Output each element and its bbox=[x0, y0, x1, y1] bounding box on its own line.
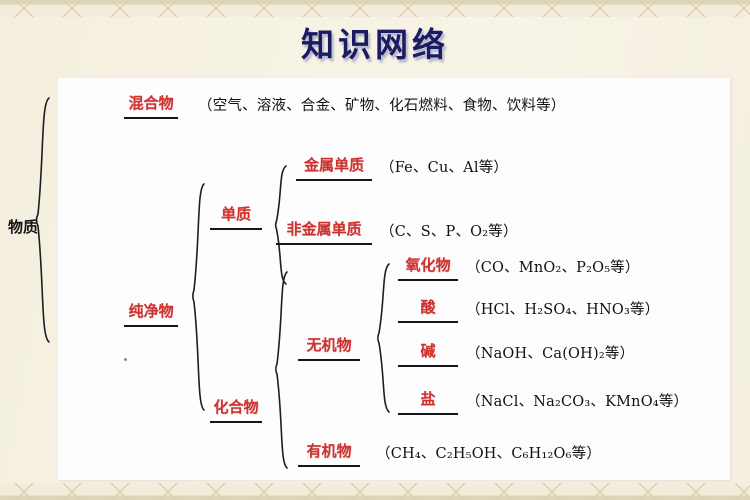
node-compound-label: 化合物 bbox=[210, 396, 262, 423]
node-nonmetal-label: 非金属单质 bbox=[276, 218, 372, 245]
page-title: 知识网络 bbox=[0, 18, 750, 66]
node-base-examples: （NaOH、Ca(OH)₂等） bbox=[466, 342, 634, 363]
node-metal-label: 金属单质 bbox=[296, 154, 372, 181]
node-oxide-examples: （CO、MnO₂、P₂O₅等） bbox=[466, 256, 640, 277]
scan-speck bbox=[124, 358, 127, 361]
node-acid-examples: （HCl、H₂SO₄、HNO₃等） bbox=[466, 298, 659, 319]
node-organic-label: 有机物 bbox=[298, 440, 360, 467]
node-acid-label: 酸 bbox=[398, 296, 458, 323]
node-salt-label: 盐 bbox=[398, 388, 458, 415]
slide-canvas: 知识网络 物质 混合物 （空气、溶液、合金、矿物、化石燃料、食物、饮料等） 纯净… bbox=[0, 0, 750, 500]
brace-root bbox=[34, 96, 52, 344]
node-nonmetal-examples: （C、S、P、O₂等） bbox=[380, 220, 518, 241]
brace-pure bbox=[191, 182, 207, 412]
bottom-border-ornament bbox=[0, 483, 750, 500]
node-organic-examples: （CH₄、C₂H₅OH、C₆H₁₂O₆等） bbox=[376, 442, 601, 463]
node-salt-examples: （NaCl、Na₂CO₃、KMnO₄等） bbox=[466, 390, 688, 411]
node-mixture-examples: （空气、溶液、合金、矿物、化石燃料、食物、饮料等） bbox=[198, 94, 566, 115]
node-base-label: 碱 bbox=[398, 340, 458, 367]
node-metal-examples: （Fe、Cu、Al等） bbox=[380, 156, 508, 177]
node-oxide-label: 氧化物 bbox=[398, 254, 458, 281]
diagram-panel: 物质 混合物 （空气、溶液、合金、矿物、化石燃料、食物、饮料等） 纯净物 单质 … bbox=[58, 78, 730, 480]
brace-inorganic bbox=[376, 262, 392, 414]
node-pure-label: 纯净物 bbox=[124, 300, 178, 327]
node-inorganic-label: 无机物 bbox=[298, 334, 360, 361]
brace-compound bbox=[274, 270, 290, 470]
node-mixture-label: 混合物 bbox=[124, 92, 178, 119]
node-element-label: 单质 bbox=[210, 203, 262, 230]
top-border-ornament bbox=[0, 0, 750, 17]
